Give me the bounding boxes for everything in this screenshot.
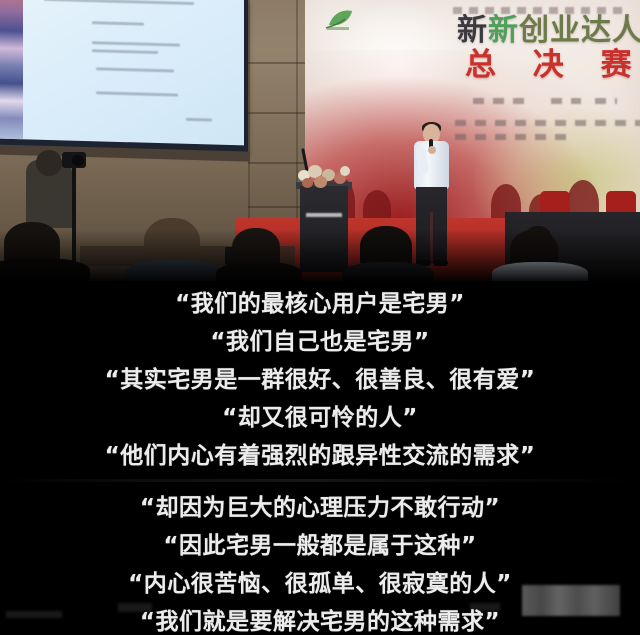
sponsor-logo-row [595, 98, 617, 104]
subtitle-line: “他们内心有着强烈的跟异性交流的需求” [0, 437, 640, 475]
banner-title: 新新创业达人 [457, 16, 640, 46]
slide-color-strip [0, 0, 23, 139]
event-leaf-logo-icon [323, 6, 357, 32]
podium-label [306, 213, 342, 217]
projector-screen [0, 0, 248, 155]
subtitle-line: “其实宅男是一群很好、很善良、很有爱” [0, 361, 640, 399]
subtitle-line: “却又很可怜的人” [0, 399, 640, 437]
photographer-head [36, 150, 62, 176]
slide-text-line [92, 49, 158, 54]
banner-title-char-1: 新 [457, 13, 488, 48]
faint-watermark-mark [470, 603, 500, 611]
image-stitch-seam [0, 479, 640, 482]
slide-text-line [186, 118, 212, 122]
speaker-hand [428, 146, 436, 154]
slide-text-line [44, 0, 194, 5]
slide-text-line [92, 41, 180, 46]
subtitle-line: “因此宅男一般都是属于这种” [0, 527, 640, 565]
banner-title-char-2: 新 [488, 13, 519, 48]
photo-bottom-vignette [0, 229, 640, 281]
slide-text-line [96, 91, 178, 96]
slide-text-line [92, 21, 144, 25]
banner-subtitle: 总 决 赛 [465, 50, 640, 81]
sponsor-logo-row [551, 98, 581, 104]
sponsor-logo-row [455, 134, 575, 140]
stage-photo: 新新创业达人 总 决 赛 [0, 0, 640, 281]
banner-title-rest: 创业达人 [519, 13, 640, 48]
faint-watermark-mark [6, 611, 62, 618]
subtitle-group-top: “我们的最核心用户是宅男” “我们自己也是宅男” “其实宅男是一群很好、很善良、… [0, 285, 640, 475]
blurred-watermark-block [522, 585, 620, 616]
screenshot-root: 新新创业达人 总 决 赛 [0, 0, 640, 635]
subtitle-line: “我们自己也是宅男” [0, 323, 640, 361]
camera-lens-icon [72, 155, 84, 166]
faint-watermark-mark [118, 603, 152, 612]
sponsor-logo-row [455, 120, 640, 126]
projector-screen-surface [0, 0, 244, 145]
sponsor-logo-row [473, 98, 533, 104]
flower-arrangement [296, 162, 354, 192]
subtitle-panel: “我们的最核心用户是宅男” “我们自己也是宅男” “其实宅男是一群很好、很善良、… [0, 281, 640, 635]
subtitle-line: “我们的最核心用户是宅男” [0, 285, 640, 323]
stage-backdrop-banner: 新新创业达人 总 决 赛 [305, 0, 640, 228]
subtitle-line: “却因为巨大的心理压力不敢行动” [0, 489, 640, 527]
slide-text-line [96, 67, 174, 72]
